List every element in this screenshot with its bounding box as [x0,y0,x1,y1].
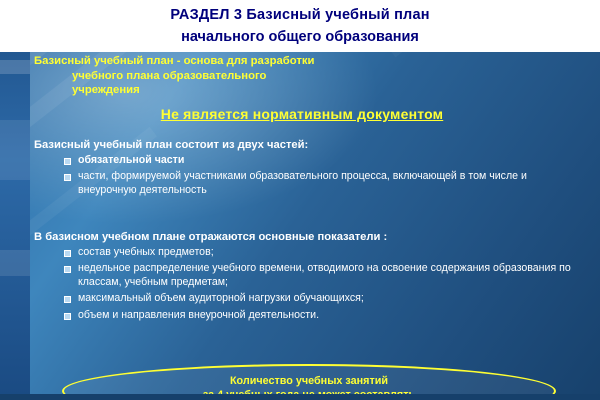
bullet-list-indicators: состав учебных предметов; недельное расп… [62,246,582,325]
slide-content: Базисный учебный план - основа для разра… [22,50,600,400]
page-title-line-1: РАЗДЕЛ 3 Базисный учебный план [0,4,600,26]
title-band: РАЗДЕЛ 3 Базисный учебный план начальног… [0,0,600,52]
square-bullet-icon [64,158,71,165]
list-item-label: обязательной части [78,154,184,166]
lead-statement: Базисный учебный план - основа для разра… [34,54,554,98]
bullet-list-parts: обязательной части части, формируемой уч… [62,154,582,200]
square-bullet-icon [64,250,71,257]
bottom-strip [0,394,600,400]
square-bullet-icon [64,313,71,320]
list-item-label: части, формируемой участниками образоват… [78,170,527,195]
intro-paragraph-2: В базисном учебном плане отражаются осно… [34,230,574,244]
lead-line-2: учебного плана образовательного [34,69,554,84]
list-item-label: максимальный объем аудиторной нагрузки о… [78,292,364,304]
list-item: максимальный объем аудиторной нагрузки о… [62,292,582,305]
list-item-label: состав учебных предметов; [78,246,214,258]
headline-not-normative: Не является нормативным документом [22,106,582,122]
list-item: обязательной части [62,154,582,167]
slide: РАЗДЕЛ 3 Базисный учебный план начальног… [0,0,600,400]
lead-line-1: Базисный учебный план - основа для разра… [34,54,554,69]
square-bullet-icon [64,174,71,181]
page-title-line-2: начального общего образования [0,26,600,48]
list-item: объем и направления внеурочной деятельно… [62,309,582,322]
list-item: части, формируемой участниками образоват… [62,170,582,197]
intro-paragraph-1: Базисный учебный план состоит из двух ча… [34,138,574,152]
lead-line-3: учреждения [34,83,554,98]
square-bullet-icon [64,266,71,273]
list-item: состав учебных предметов; [62,246,582,259]
list-item-label: недельное распределение учебного времени… [78,262,571,287]
list-item-label: объем и направления внеурочной деятельно… [78,309,319,321]
square-bullet-icon [64,296,71,303]
list-item: недельное распределение учебного времени… [62,262,582,289]
callout-line-1: Количество учебных занятий [64,374,554,388]
